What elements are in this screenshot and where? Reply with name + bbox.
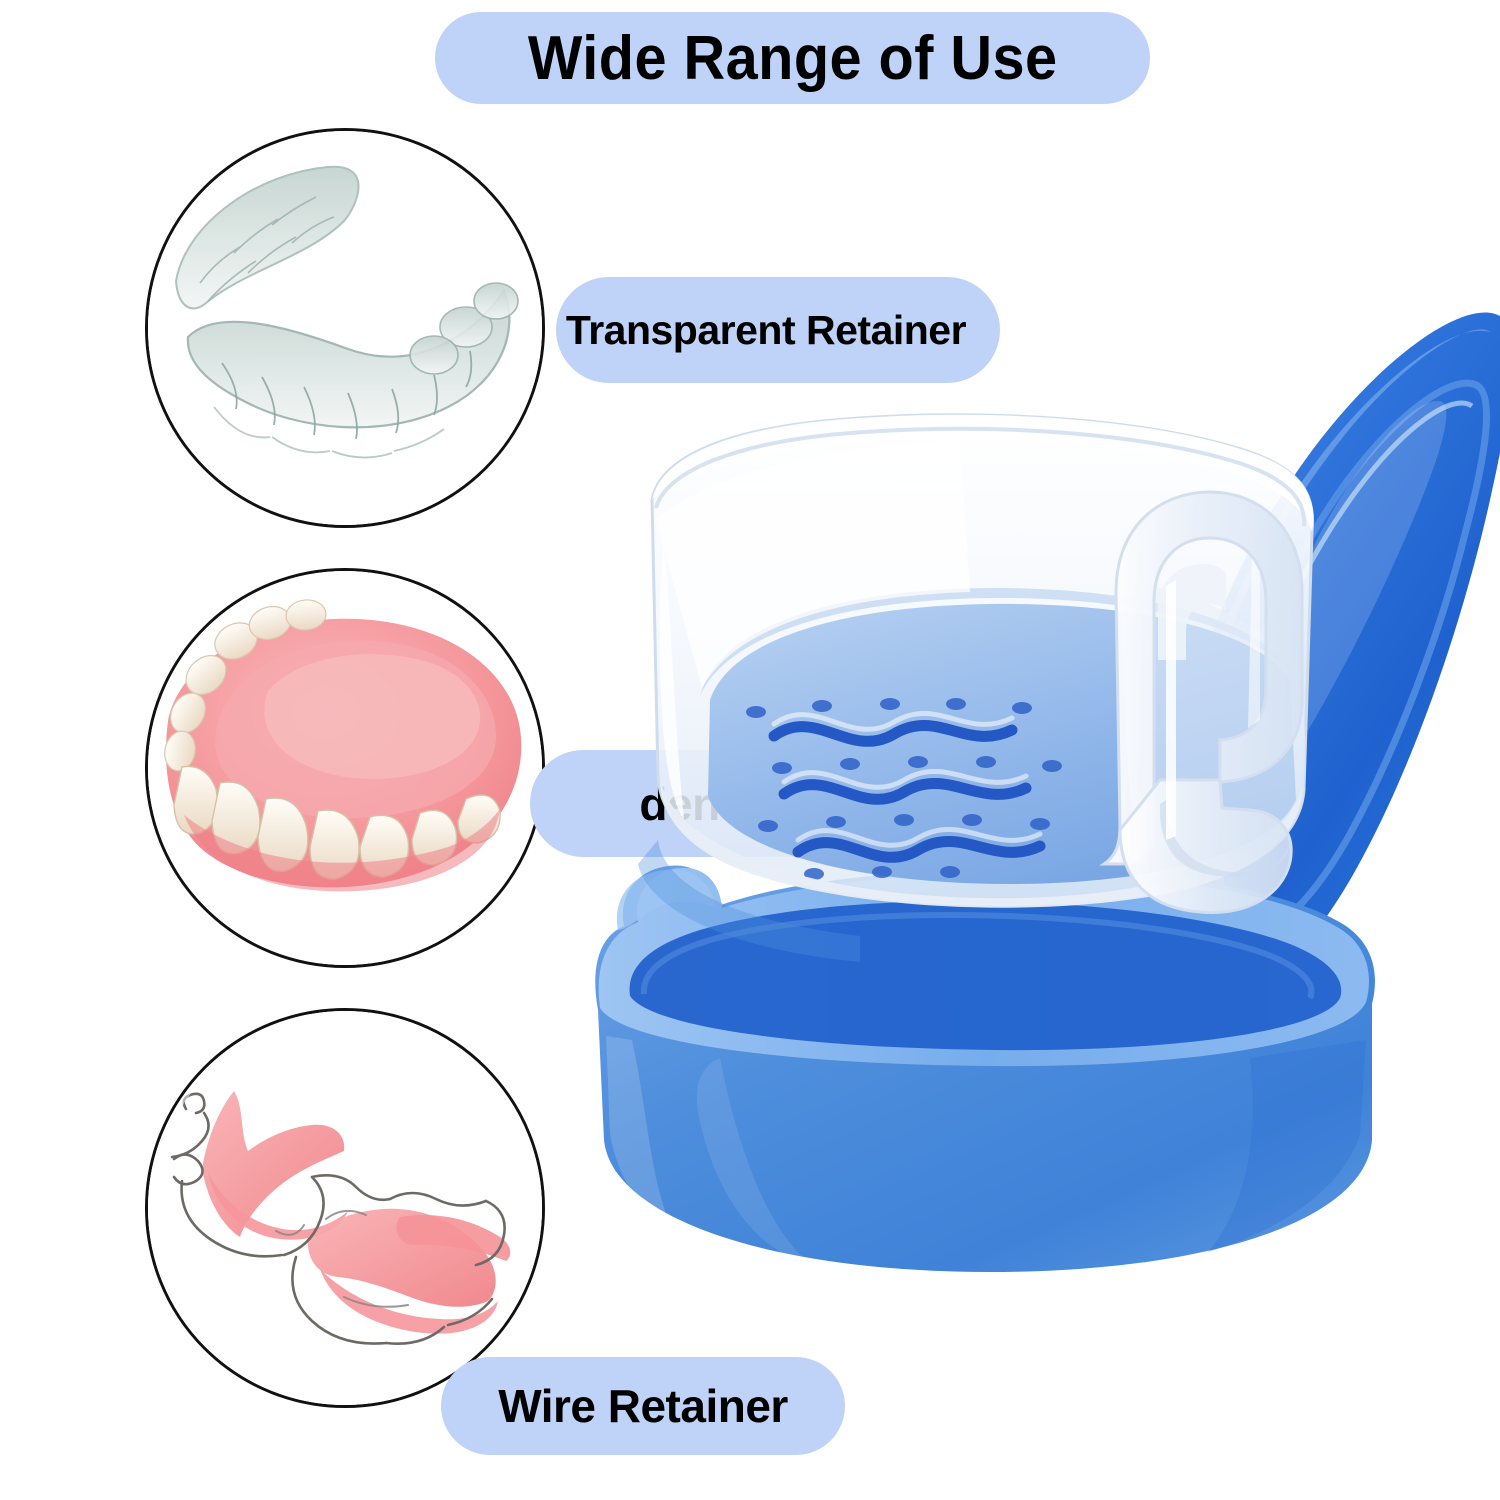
feature-image-denture [145, 568, 545, 968]
pink-acrylic-wire-retainers-photo [148, 1011, 542, 1405]
feature-label-wire-retainer: Wire Retainer [498, 1379, 788, 1433]
page-title-pill: Wide Range of Use [435, 12, 1150, 104]
denture-case-illustration [560, 140, 1500, 1350]
product-image-denture-bath-case [560, 140, 1500, 1350]
feature-label-pill-wire-retainer: Wire Retainer [441, 1357, 845, 1455]
clear-aligner-tray-photo [148, 131, 542, 525]
pink-full-denture-photo [148, 571, 542, 965]
page-title: Wide Range of Use [528, 23, 1058, 94]
feature-image-transparent-retainer [145, 128, 545, 528]
poster-canvas: Wide Range of Use [0, 0, 1500, 1500]
feature-image-wire-retainer [145, 1008, 545, 1408]
